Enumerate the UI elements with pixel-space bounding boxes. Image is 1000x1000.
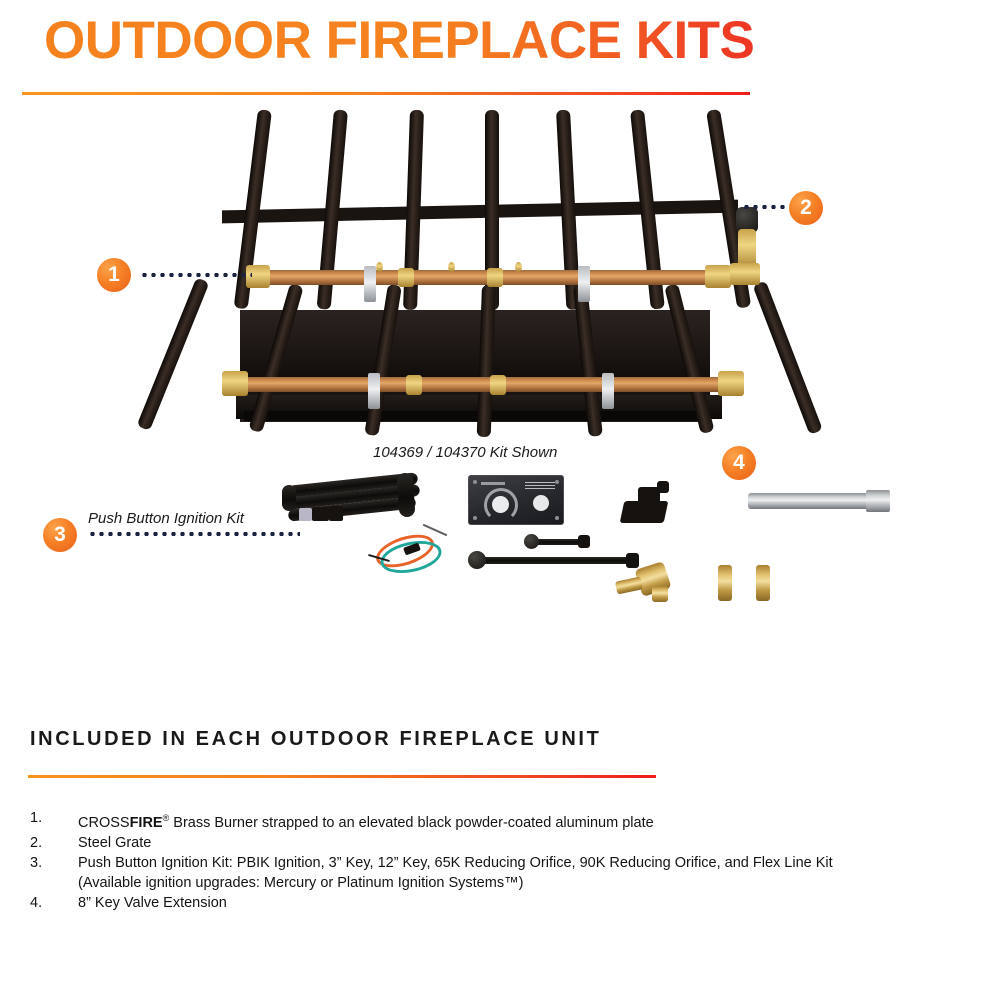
callout-badge-4[interactable]: 4	[722, 446, 756, 480]
burner-clamp-upper-a	[364, 266, 376, 302]
crossfire-bold: FIRE	[130, 815, 163, 831]
burner-fitting-lower-left	[222, 371, 248, 396]
burner-clamp-lower-b	[602, 373, 614, 409]
panel-screw-bl	[473, 516, 477, 520]
title-divider-rule	[22, 92, 750, 95]
burner-pipe-upper	[258, 270, 714, 285]
panel-screw-tl	[473, 480, 477, 484]
flex-hose-bend-left	[282, 485, 296, 511]
panel-instruction-text	[525, 482, 555, 489]
burner-fitting-lower-mid-a	[406, 375, 422, 395]
crossfire-suffix: Brass Burner strapped to an elevated bla…	[169, 815, 653, 831]
included-items-list: 1. CROSSFIRE® Brass Burner strapped to a…	[30, 808, 970, 913]
included-section-divider-rule	[28, 775, 656, 778]
brass-valve-stem	[652, 586, 668, 602]
included-section-heading: INCLUDED IN EACH OUTDOOR FIREPLACE UNIT	[30, 728, 601, 751]
grate-bar-7-lower	[752, 280, 822, 434]
grate-rear-rail	[222, 200, 738, 224]
list-item-number: 3.	[30, 853, 78, 873]
panel-brand-mark	[481, 482, 505, 485]
product-photo-stage: 1 2 104369 / 104370 Kit Shown Push Butto…	[0, 105, 1000, 665]
burner-fitting-lower-right	[718, 371, 744, 396]
burner-fitting-upper-mid-a	[398, 268, 414, 287]
burner-fitting-upper-mid-b	[487, 268, 503, 287]
panel-push-button[interactable]	[533, 495, 549, 511]
grate-bar-1-lower	[137, 277, 210, 431]
list-item: 1. CROSSFIRE® Brass Burner strapped to a…	[30, 808, 970, 833]
kit-shown-caption: 104369 / 104370 Kit Shown	[373, 444, 557, 461]
list-item-number: 2.	[30, 833, 78, 853]
list-item: 4. 8” Key Valve Extension	[30, 893, 970, 913]
key-3-tip	[578, 535, 590, 548]
list-item-text: Steel Grate	[78, 833, 970, 853]
list-item-text: Push Button Ignition Kit: PBIK Ignition,…	[78, 853, 970, 873]
key-3-shaft	[533, 539, 583, 545]
reducing-orifice-90k	[756, 565, 770, 601]
ignition-control-panel[interactable]	[468, 475, 564, 525]
list-item: 3. Push Button Ignition Kit: PBIK Igniti…	[30, 853, 970, 873]
key-3-handle	[524, 534, 539, 549]
callout-badge-3[interactable]: 3	[43, 518, 77, 552]
burner-pipe-lower	[238, 377, 726, 392]
list-item-text: 8” Key Valve Extension	[78, 893, 970, 913]
burner-jet-upper-c	[515, 262, 522, 272]
list-item-number: 4.	[30, 893, 78, 913]
list-item-text: CROSSFIRE® Brass Burner strapped to an e…	[78, 808, 970, 833]
burner-clamp-lower-a	[368, 373, 380, 409]
page-title: OUTDOOR FIREPLACE KITS	[44, 10, 754, 71]
callout-1-leader-line	[140, 273, 252, 277]
burner-jet-upper-b	[448, 262, 455, 272]
valve-brass-body	[730, 263, 760, 285]
flex-hose-connector-nut	[312, 507, 329, 521]
push-button-ignition-kit-label: Push Button Ignition Kit	[88, 510, 244, 527]
callout-3-leader-line	[88, 532, 300, 536]
burner-fitting-upper-right	[705, 265, 731, 288]
key-12-handle	[468, 551, 486, 569]
crossfire-prefix: CROSS	[78, 815, 130, 831]
key-12-tip	[626, 553, 639, 568]
flex-hose-bend-right	[396, 472, 415, 517]
flex-hose-connector-collar	[299, 508, 312, 521]
list-item-number: 1.	[30, 808, 78, 828]
callout-badge-2[interactable]: 2	[789, 191, 823, 225]
reducing-orifice-65k	[718, 565, 732, 601]
panel-dial-knob[interactable]	[492, 496, 509, 513]
burner-fitting-lower-mid-b	[490, 375, 506, 395]
electrode-pin	[423, 524, 448, 536]
igniter-nozzle	[657, 481, 669, 493]
burner-clamp-upper-b	[578, 266, 590, 302]
callout-2-leader-line	[742, 205, 790, 209]
base-bottom-lip	[244, 411, 704, 421]
key-valve-extension-hex-end	[866, 490, 890, 512]
panel-screw-br	[555, 516, 559, 520]
panel-screw-tr	[555, 480, 559, 484]
key-12-shaft	[482, 557, 632, 564]
brass-valve-outlet	[615, 576, 643, 594]
callout-badge-1[interactable]: 1	[97, 258, 131, 292]
burner-jet-upper-a	[376, 262, 383, 272]
list-item-subnote: (Available ignition upgrades: Mercury or…	[78, 873, 970, 893]
flex-hose-connector-end	[329, 506, 343, 521]
list-item: 2. Steel Grate	[30, 833, 970, 853]
